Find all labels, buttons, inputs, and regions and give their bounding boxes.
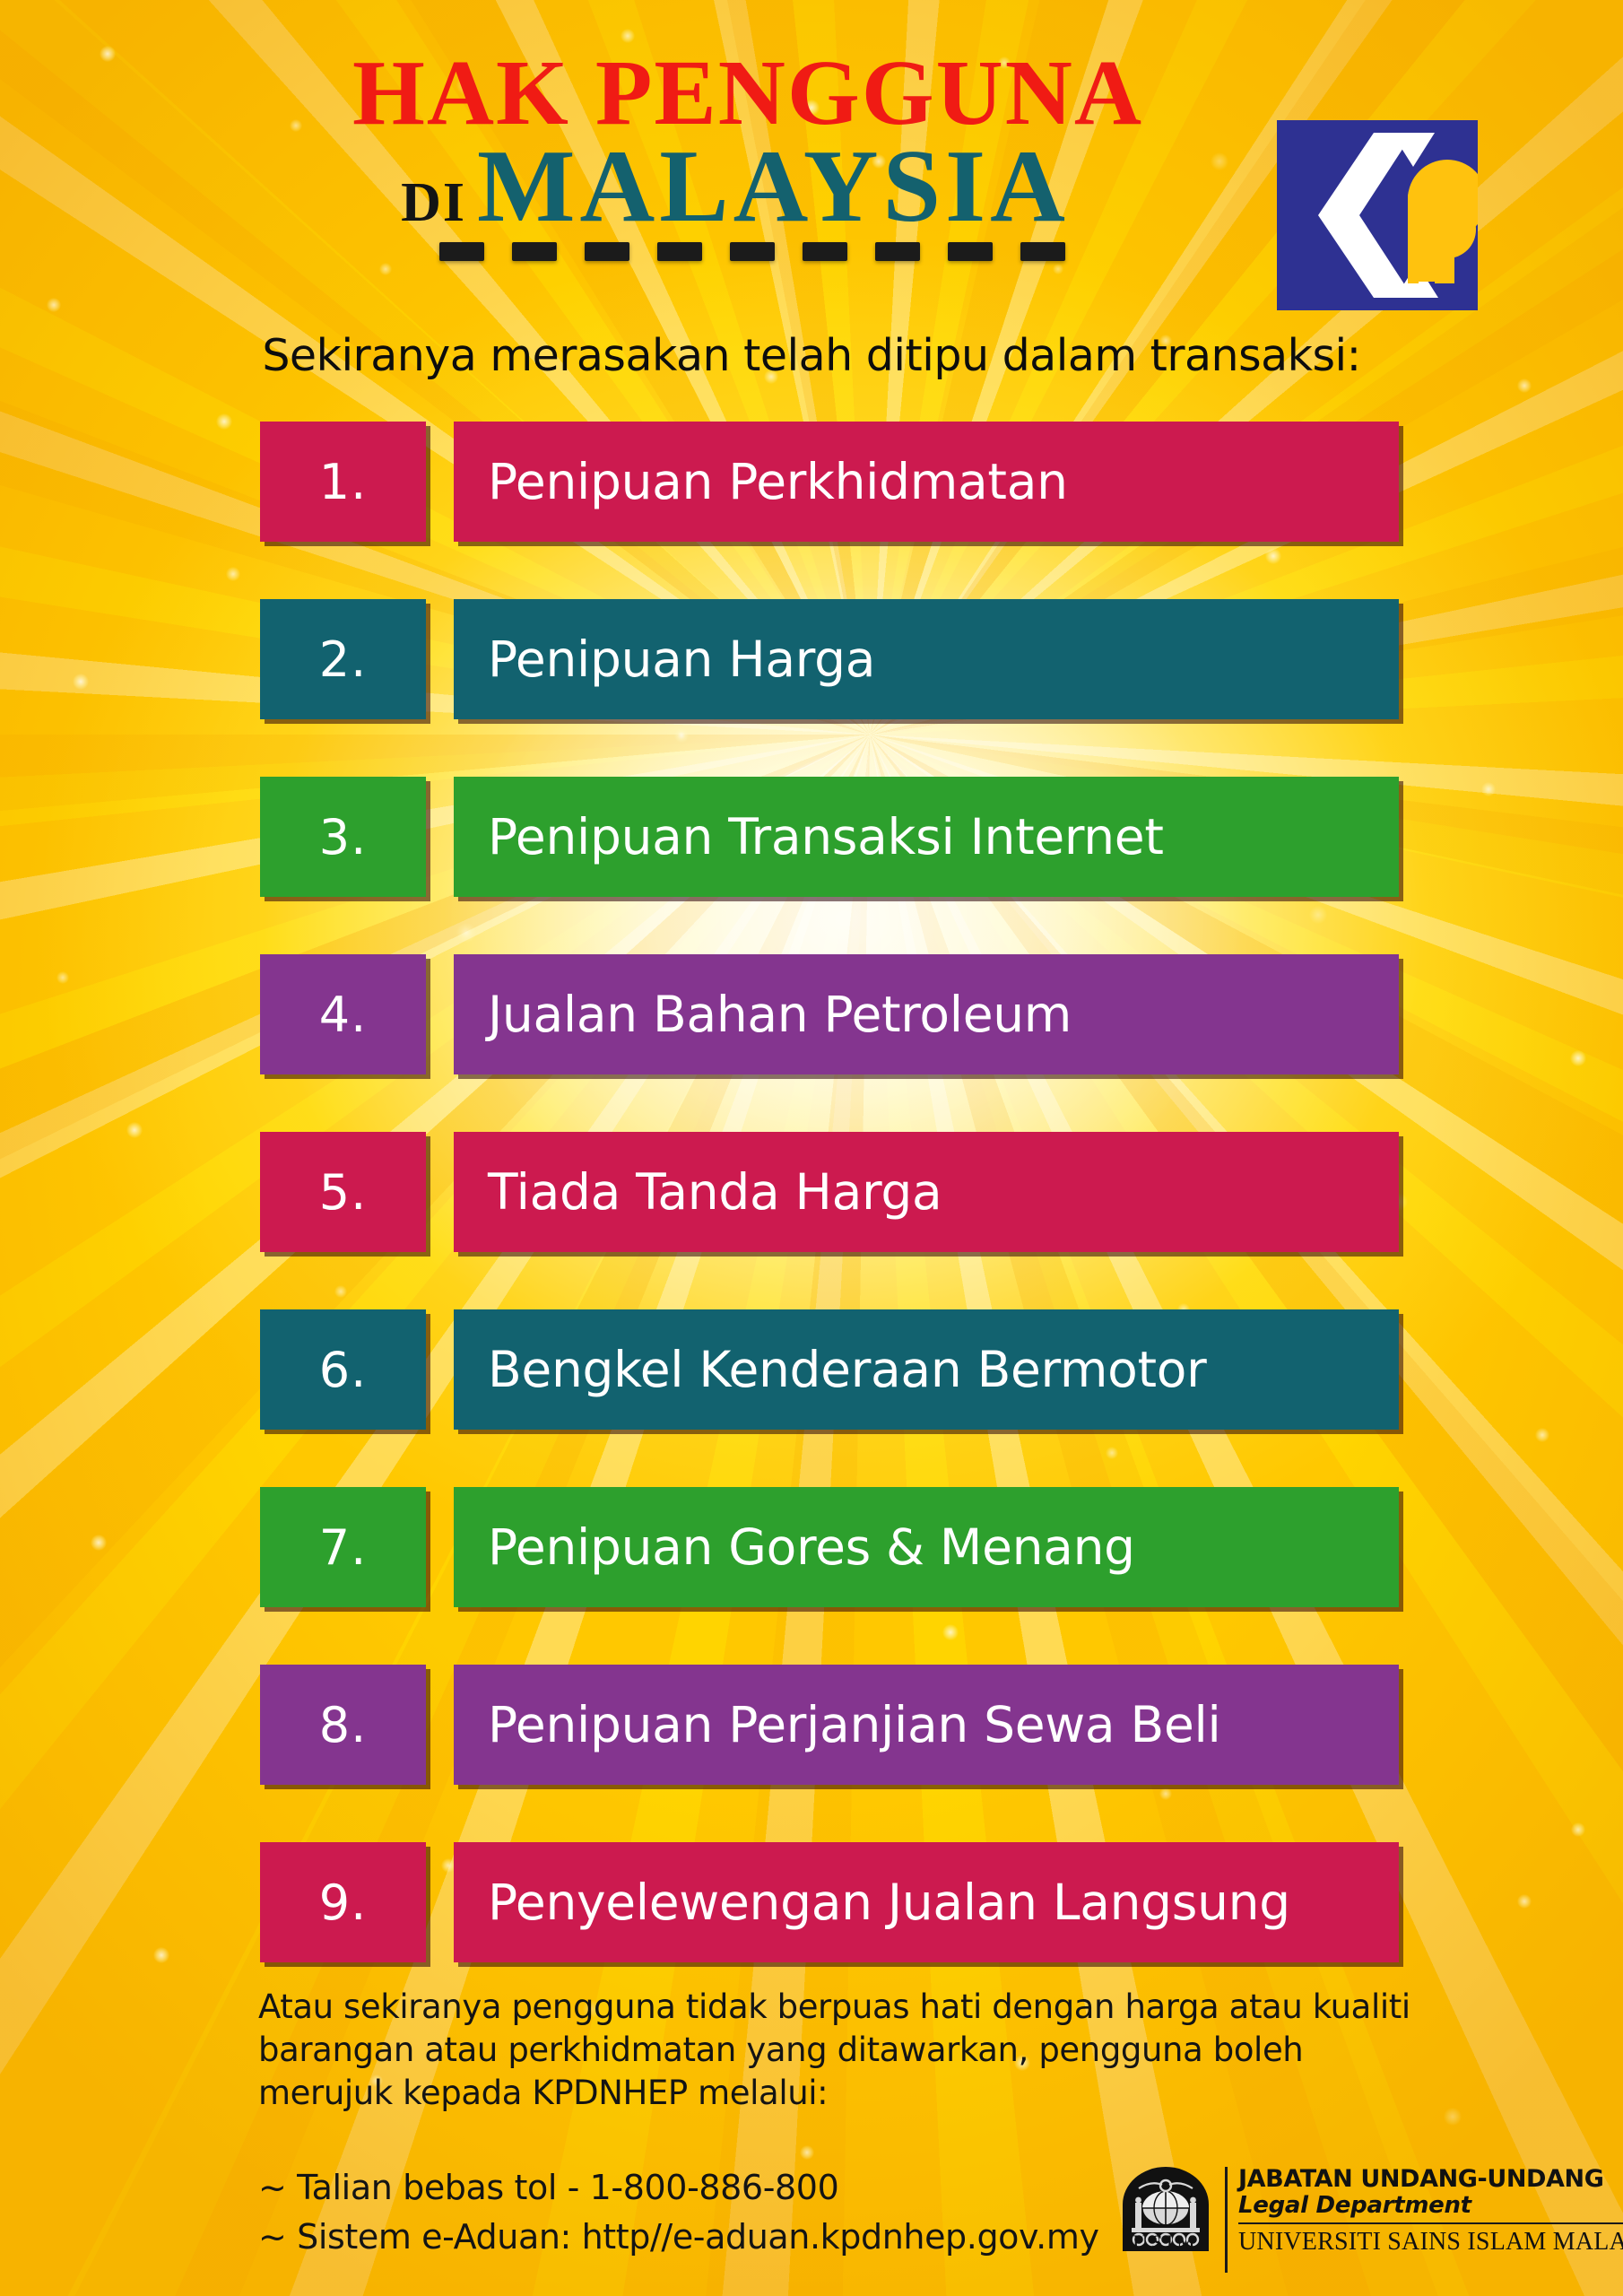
list-item: 5.Tiada Tanda Harga [260,1132,1399,1252]
usim-acronym: USIM [1115,2231,1216,2255]
usim-logo-block: USIM JABATAN UNDANG-UNDANG Legal Departm… [1115,2163,1623,2278]
dash-segment [657,242,702,261]
list-item: 6.Bengkel Kenderaan Bermotor [260,1309,1399,1430]
title-preposition: DI [401,171,466,235]
dash-segment [875,242,920,261]
contact-eaduan[interactable]: ~ Sistem e-Aduan: http//e-aduan.kpdnhep.… [258,2213,1099,2262]
list-item-label: Penyelewengan Jualan Langsung [454,1842,1399,1962]
list-item-number: 7. [260,1487,426,1607]
title-dashed-underline [249,242,1255,265]
list-item-number: 2. [260,599,426,719]
list-item: 3.Penipuan Transaksi Internet [260,777,1399,897]
dash-segment [585,242,629,261]
title-country: MALAYSIA [477,135,1070,239]
page-title-primary: HAK PENGGUNA [240,47,1255,140]
list-item: 7.Penipuan Gores & Menang [260,1487,1399,1607]
usim-rule [1238,2222,1623,2224]
list-item-label: Tiada Tanda Harga [454,1132,1399,1252]
list-item-label: Penipuan Perjanjian Sewa Beli [454,1665,1399,1785]
usim-divider [1225,2167,1228,2273]
title-second-line: DI MALAYSIA [215,135,1255,239]
title-block: HAK PENGGUNA DI MALAYSIA [215,47,1255,265]
list-item-label: Penipuan Harga [454,599,1399,719]
list-item-label: Jualan Bahan Petroleum [454,954,1399,1074]
usim-department-malay: JABATAN UNDANG-UNDANG [1238,2165,1623,2193]
list-item-number: 9. [260,1842,426,1962]
list-item-label: Penipuan Gores & Menang [454,1487,1399,1607]
dash-segment [948,242,993,261]
contact-hotline: ~ Talian bebas tol - 1-800-886-800 [258,2163,1099,2213]
list-item-number: 3. [260,777,426,897]
kpdn-logo-icon [1277,120,1478,310]
contact-block: ~ Talian bebas tol - 1-800-886-800 ~ Sis… [258,2163,1099,2262]
dash-segment [1020,242,1065,261]
list-item: 4.Jualan Bahan Petroleum [260,954,1399,1074]
list-item: 2.Penipuan Harga [260,599,1399,719]
list-item: 1.Penipuan Perkhidmatan [260,422,1399,542]
poster-root: HAK PENGGUNA DI MALAYSIA [0,0,1623,2296]
dash-segment [439,242,484,261]
usim-text-block: JABATAN UNDANG-UNDANG Legal Department U… [1238,2163,1623,2257]
dash-segment [730,242,775,261]
usim-mosque-icon: USIM [1115,2163,1216,2257]
list-item: 9.Penyelewengan Jualan Langsung [260,1842,1399,1962]
dash-segment [803,242,847,261]
list-item-label: Penipuan Perkhidmatan [454,422,1399,542]
list-item-number: 1. [260,422,426,542]
poster-header: HAK PENGGUNA DI MALAYSIA [0,47,1623,289]
usim-department-english: Legal Department [1238,2192,1623,2219]
list-item: 8.Penipuan Perjanjian Sewa Beli [260,1665,1399,1785]
list-item-number: 5. [260,1132,426,1252]
footer-paragraph: Atau sekiranya pengguna tidak berpuas ha… [258,1986,1424,2115]
usim-university-name: UNIVERSITI SAINS ISLAM MALAYSIA [1238,2228,1623,2257]
subtitle-text: Sekiranya merasakan telah ditipu dalam t… [0,330,1623,381]
list-item-label: Penipuan Transaksi Internet [454,777,1399,897]
list-item-number: 8. [260,1665,426,1785]
list-item-number: 4. [260,954,426,1074]
list-item-number: 6. [260,1309,426,1430]
dash-segment [512,242,557,261]
complaint-type-list: 1.Penipuan Perkhidmatan2.Penipuan Harga3… [260,422,1399,2020]
list-item-label: Bengkel Kenderaan Bermotor [454,1309,1399,1430]
